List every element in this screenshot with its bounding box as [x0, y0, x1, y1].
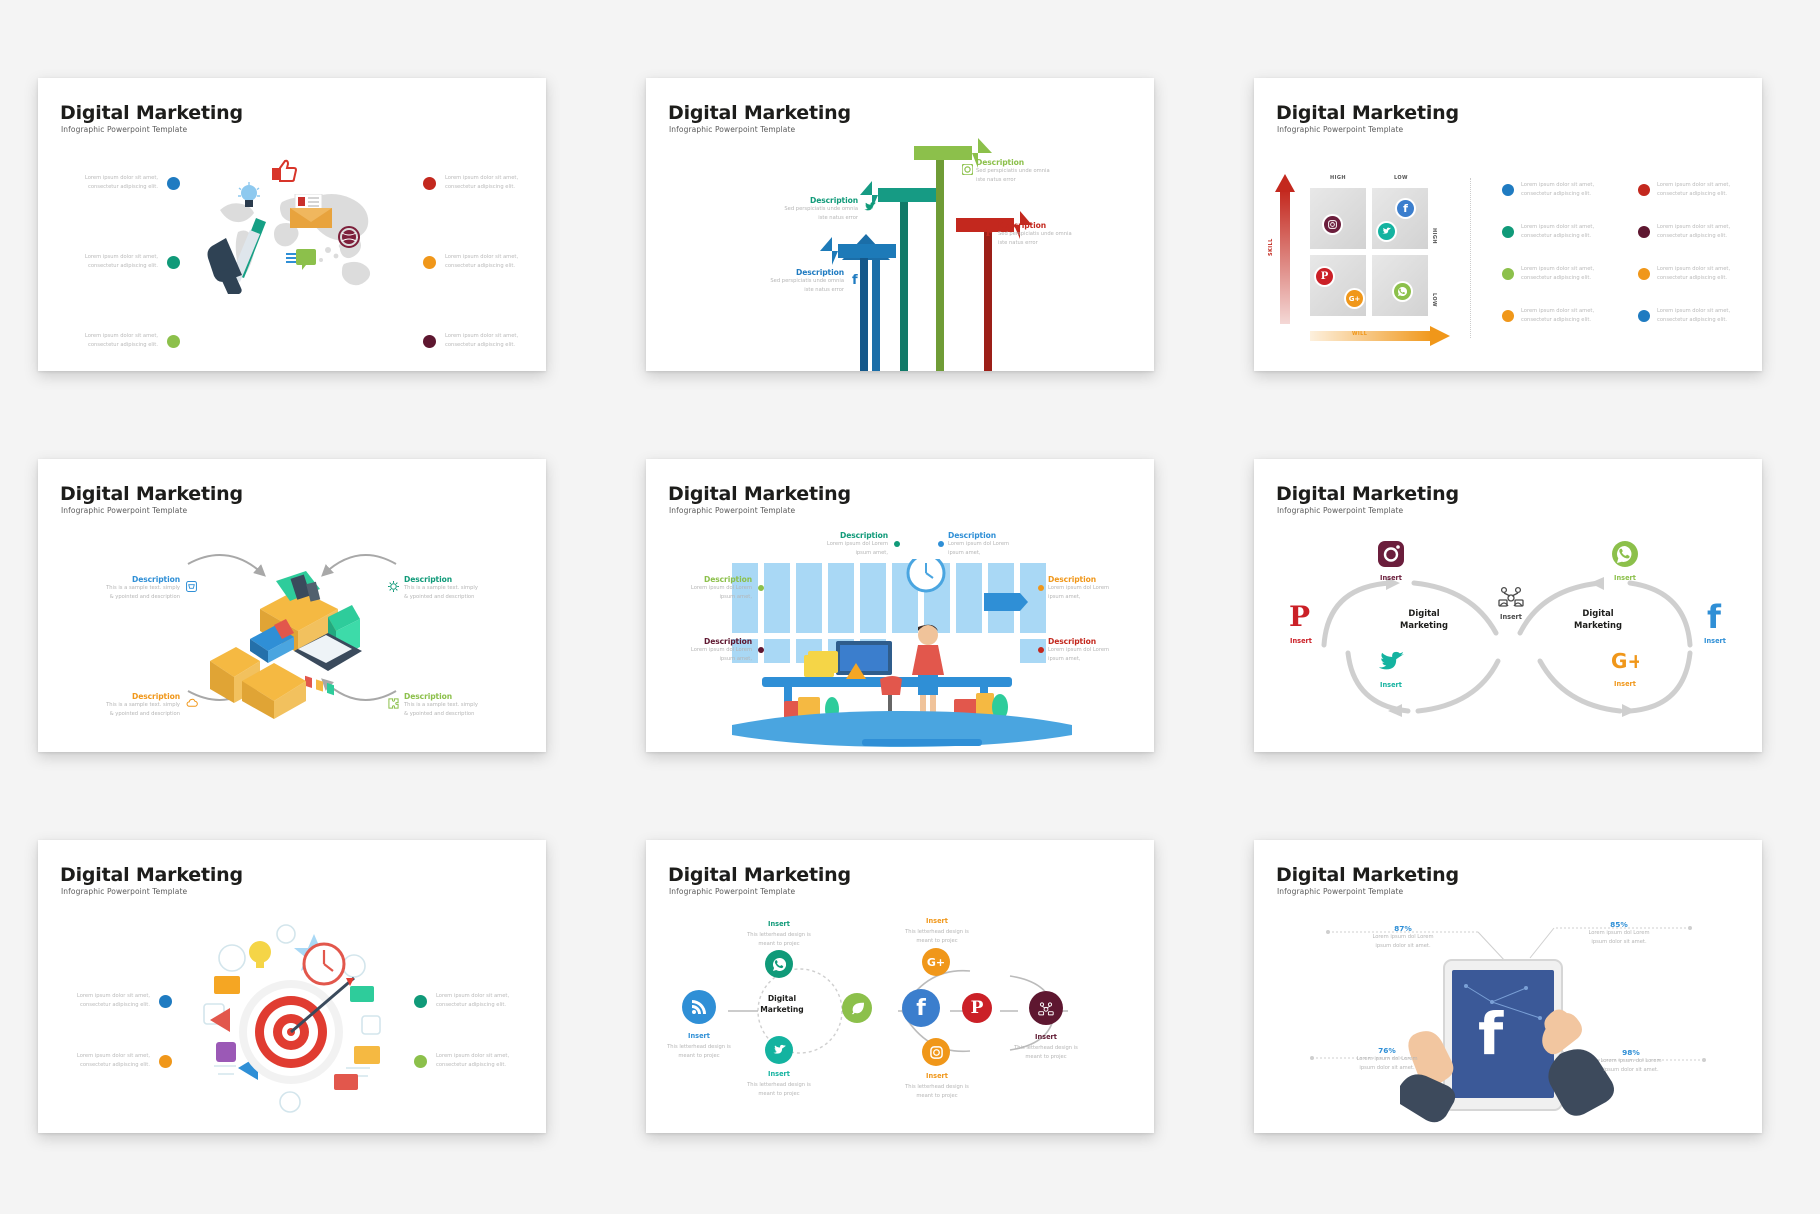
- instagram-icon: [962, 164, 973, 175]
- bullet-text: Lorem ipsum dolor sit amet,consectetur a…: [445, 253, 531, 271]
- bullet-dot: [167, 177, 180, 190]
- legend-item[interactable]: Lorem ipsum dolor sit amet,consectetur a…: [1502, 265, 1601, 283]
- slide-thumbnail-1[interactable]: Digital Marketing Infographic Powerpoint…: [38, 78, 546, 371]
- description-heading: Description: [404, 575, 520, 584]
- page-subtitle: Infographic Powerpoint Template: [61, 125, 187, 134]
- node-body: This letterhead design ismeant to projec: [654, 1043, 744, 1061]
- legend-item[interactable]: Lorem ipsum dolor sit amet,consectetur a…: [1502, 223, 1601, 241]
- bullet-text: Lorem ipsum dolor sit amet,consectetur a…: [72, 253, 158, 271]
- node-label: Insert: [742, 1070, 816, 1078]
- legend-dot: [1638, 184, 1650, 196]
- description-heading: Description: [1048, 575, 1140, 584]
- description-body: Lorem ipsum dol Loremipsum amet,: [660, 646, 752, 664]
- stat-value: 76%: [1330, 1046, 1444, 1055]
- arrow-label-group[interactable]: Description Sed perspiciatis unde omniai…: [998, 221, 1108, 248]
- stat-body: Lorem ipsum dol Loremipsum dolor sit ame…: [1330, 1055, 1444, 1073]
- skill-axis-arrow: [1274, 174, 1296, 324]
- svg-text:f: f: [1478, 1000, 1504, 1068]
- bullet-text: Lorem ipsum dolor sit amet,consectetur a…: [436, 1052, 524, 1070]
- page-title: Digital Marketing: [1276, 483, 1459, 505]
- node-body: This letterhead design ismeant to projec: [734, 931, 824, 949]
- presenter-illustration: [732, 559, 1072, 749]
- node-label: Insert: [1278, 637, 1324, 645]
- legend-dot: [1502, 226, 1514, 238]
- legend-text: Lorem ipsum dolor sit amet,consectetur a…: [1657, 265, 1737, 283]
- bullet-row[interactable]: Lorem ipsum dolor sit amet,consectetur a…: [62, 1052, 172, 1070]
- description-body: This is a sample text. simply& ypointed …: [64, 701, 180, 719]
- infinity-loop-arrows: [1274, 537, 1744, 727]
- svg-text:G+: G+: [1611, 649, 1639, 673]
- slide-thumbnail-4[interactable]: Digital Marketing Infographic Powerpoint…: [38, 459, 546, 752]
- matrix-cell-low-high[interactable]: [1372, 188, 1428, 249]
- arrow-label-group[interactable]: Description Sed perspiciatis unde omniai…: [738, 196, 858, 223]
- skill-axis-label: SKILL: [1268, 238, 1274, 256]
- twitter-icon[interactable]: [1378, 223, 1395, 240]
- node-twitter[interactable]: Insert: [1368, 651, 1414, 689]
- rss-icon[interactable]: [682, 990, 716, 1024]
- stat-group[interactable]: 87% Lorem ipsum dol Loremipsum dolor sit…: [1346, 924, 1460, 951]
- whatsapp-icon[interactable]: [1394, 283, 1411, 300]
- arrow-label-group[interactable]: Description Sed perspiciatis unde omniai…: [976, 158, 1086, 185]
- center-label-right: DigitalMarketing: [1560, 607, 1636, 631]
- node-label: Insert: [900, 1072, 974, 1080]
- bullet-text: Lorem ipsum dolor sit amet,consectetur a…: [445, 174, 531, 192]
- matrix-row-header-low: LOW: [1431, 293, 1437, 307]
- bullet-dot: [758, 647, 764, 653]
- bullet-row[interactable]: Lorem ipsum dolor sit amet,consectetur a…: [72, 174, 180, 192]
- page-subtitle: Infographic Powerpoint Template: [1277, 887, 1403, 896]
- node-label: Insert: [1368, 574, 1414, 582]
- bullet-dot: [167, 256, 180, 269]
- description-heading: Description: [1048, 637, 1140, 646]
- node-label: Insert: [1009, 1033, 1083, 1041]
- pinterest-icon[interactable]: P: [1316, 268, 1333, 285]
- description-group[interactable]: Description Lorem ipsum dol Loremipsum a…: [660, 575, 752, 602]
- stat-group[interactable]: 98% Lorem ipsum dol Loremipsum dolor sit…: [1574, 1048, 1688, 1075]
- target-bullseye-illustration: [186, 916, 396, 1116]
- description-group[interactable]: Description This is a sample text. simpl…: [64, 692, 180, 719]
- envelope-icon: [290, 194, 332, 228]
- description-body: Sed perspiciatis unde omniaiste natus er…: [976, 167, 1086, 185]
- page-subtitle: Infographic Powerpoint Template: [61, 887, 187, 896]
- page-subtitle: Infographic Powerpoint Template: [1277, 125, 1403, 134]
- description-heading: Description: [738, 196, 858, 205]
- network-icon[interactable]: [1029, 991, 1063, 1025]
- matrix-col-header-high: HIGH: [1330, 175, 1346, 181]
- page-title: Digital Marketing: [668, 864, 851, 886]
- legend-dot: [1638, 310, 1650, 322]
- page-title: Digital Marketing: [60, 864, 243, 886]
- arrow-label-group[interactable]: Description Sed perspiciatis unde omniai…: [724, 268, 844, 295]
- description-body: Sed perspiciatis unde omniaiste natus er…: [738, 205, 858, 223]
- thumbs-up-icon: [271, 158, 297, 182]
- legend-item[interactable]: Lorem ipsum dolor sit amet,consectetur a…: [1502, 181, 1601, 199]
- globe-icon: [338, 226, 360, 248]
- facebook-icon: f: [1701, 601, 1729, 631]
- node-label: Insert: [1602, 574, 1648, 582]
- description-heading: Description: [660, 637, 752, 646]
- page-subtitle: Infographic Powerpoint Template: [669, 887, 795, 896]
- description-heading: Description: [660, 575, 752, 584]
- svg-text:P: P: [986, 228, 994, 238]
- network-icon: [1498, 585, 1524, 607]
- stat-value: 98%: [1574, 1048, 1688, 1057]
- legend-item[interactable]: Lorem ipsum dolor sit amet,consectetur a…: [1502, 307, 1601, 325]
- instagram-icon[interactable]: [922, 1038, 950, 1066]
- bullet-text: Lorem ipsum dolor sit amet,consectetur a…: [445, 332, 531, 350]
- description-heading: Description: [976, 158, 1086, 167]
- description-body: Sed perspiciatis unde omniaiste natus er…: [724, 277, 844, 295]
- description-body: Lorem ipsum dol Loremipsum amet,: [796, 540, 888, 558]
- slide-thumbnail-8[interactable]: Digital Marketing Infographic Powerpoint…: [646, 840, 1154, 1133]
- legend-dot: [1502, 184, 1514, 196]
- matrix-cell-high-low[interactable]: [1310, 255, 1366, 316]
- description-heading: Description: [64, 575, 180, 584]
- bullet-text: Lorem ipsum dolor sit amet,consectetur a…: [436, 992, 524, 1010]
- stat-group[interactable]: 85% Lorem ipsum dol Loremipsum dolor sit…: [1562, 920, 1676, 947]
- matrix-row-header-high: HIGH: [1431, 228, 1437, 244]
- node-label: Insert: [1368, 681, 1414, 689]
- page-title: Digital Marketing: [668, 102, 851, 124]
- description-heading: Description: [948, 531, 1040, 540]
- stat-body: Lorem ipsum dol Loremipsum dolor sit ame…: [1562, 929, 1676, 947]
- bullet-dot: [414, 1055, 427, 1068]
- node-googleplus[interactable]: G+ Insert: [1602, 649, 1648, 688]
- description-group[interactable]: Description This is a sample text. simpl…: [404, 575, 520, 602]
- description-body: Lorem ipsum dol Loremipsum amet,: [1048, 646, 1140, 664]
- description-body: This is a sample text. simply& ypointed …: [404, 701, 520, 719]
- node-label: Insert: [742, 920, 816, 928]
- description-body: Lorem ipsum dol Loremipsum amet,: [660, 584, 752, 602]
- description-heading: Description: [64, 692, 180, 701]
- stat-body: Lorem ipsum dol Loremipsum dolor sit ame…: [1346, 933, 1460, 951]
- page-subtitle: Infographic Powerpoint Template: [1277, 506, 1403, 515]
- puzzle-icon: [388, 698, 399, 709]
- gear-icon: [388, 581, 399, 592]
- vertical-divider: [1470, 178, 1471, 338]
- googleplus-icon: G+: [1611, 649, 1639, 673]
- legend-text: Lorem ipsum dolor sit amet,consectetur a…: [1657, 307, 1737, 325]
- bullet-dot: [423, 256, 436, 269]
- pinterest-icon: P: [1286, 601, 1316, 631]
- bullet-dot: [1038, 585, 1044, 591]
- bullet-text: Lorem ipsum dolor sit amet,consectetur a…: [72, 332, 158, 350]
- bullet-row[interactable]: Lorem ipsum dolor sit amet,consectetur a…: [72, 253, 180, 271]
- node-label: Insert: [1602, 680, 1648, 688]
- bullet-dot: [758, 585, 764, 591]
- description-group[interactable]: Description Lorem ipsum dol Loremipsum a…: [796, 531, 888, 558]
- bullet-dot: [938, 541, 944, 547]
- description-group[interactable]: Description This is a sample text. simpl…: [404, 692, 520, 719]
- legend-text: Lorem ipsum dolor sit amet,consectetur a…: [1657, 223, 1737, 241]
- megaphone-icon: [204, 216, 288, 294]
- slide-thumbnail-7[interactable]: Digital Marketing Infographic Powerpoint…: [38, 840, 546, 1133]
- legend-item[interactable]: Lorem ipsum dolor sit amet,consectetur a…: [1638, 223, 1737, 241]
- whatsapp-icon[interactable]: [765, 950, 793, 978]
- slide-thumbnail-3[interactable]: Digital Marketing Infographic Powerpoint…: [1254, 78, 1762, 371]
- twitter-icon: [1378, 651, 1404, 673]
- node-label: Insert: [1692, 637, 1738, 645]
- bullet-row[interactable]: Lorem ipsum dolor sit amet,consectetur a…: [423, 174, 531, 192]
- description-body: Lorem ipsum dol Loremipsum amet,: [948, 540, 1040, 558]
- bullet-dot: [423, 177, 436, 190]
- stat-value: 87%: [1346, 924, 1460, 933]
- legend-dot: [1638, 226, 1650, 238]
- bullet-row[interactable]: Lorem ipsum dolor sit amet,consectetur a…: [72, 332, 180, 350]
- page-title: Digital Marketing: [1276, 102, 1459, 124]
- ecommerce-isometric-illustration: [198, 569, 388, 719]
- bullet-row[interactable]: Lorem ipsum dolor sit amet,consectetur a…: [414, 1052, 524, 1070]
- description-heading: Description: [724, 268, 844, 277]
- page-title: Digital Marketing: [668, 483, 851, 505]
- description-heading: Description: [404, 692, 520, 701]
- slide-thumbnail-6[interactable]: Digital Marketing Infographic Powerpoint…: [1254, 459, 1762, 752]
- node-whatsapp[interactable]: Insert: [1602, 541, 1648, 582]
- instagram-icon[interactable]: [1324, 216, 1341, 233]
- center-label-left: DigitalMarketing: [1386, 607, 1462, 631]
- page-title: Digital Marketing: [60, 483, 243, 505]
- facebook-icon[interactable]: f: [1397, 200, 1414, 217]
- matrix-col-header-low: LOW: [1394, 175, 1408, 181]
- googleplus-icon[interactable]: G+: [922, 948, 950, 976]
- svg-text:f: f: [1707, 601, 1722, 631]
- legend-item[interactable]: Lorem ipsum dolor sit amet,consectetur a…: [1638, 307, 1737, 325]
- page-subtitle: Infographic Powerpoint Template: [61, 506, 187, 515]
- svg-text:P: P: [1289, 601, 1310, 631]
- node-instagram[interactable]: Insert: [1368, 541, 1414, 582]
- facebook-icon[interactable]: f: [902, 989, 940, 1027]
- bullet-dot: [159, 995, 172, 1008]
- stat-group[interactable]: 76% Lorem ipsum dol Loremipsum dolor sit…: [1330, 1046, 1444, 1073]
- cart-icon: [186, 581, 197, 592]
- bullet-dot: [894, 541, 900, 547]
- stat-body: Lorem ipsum dol Loremipsum dolor sit ame…: [1574, 1057, 1688, 1075]
- googleplus-icon[interactable]: G+: [1346, 290, 1363, 307]
- will-axis-label: WILL: [1352, 331, 1367, 337]
- node-label: Insert: [900, 917, 974, 925]
- description-group[interactable]: Description Lorem ipsum dol Loremipsum a…: [1048, 575, 1140, 602]
- pinterest-icon[interactable]: P: [962, 993, 992, 1023]
- pinterest-icon: P: [984, 227, 995, 238]
- description-body: This is a sample text. simply& ypointed …: [404, 584, 520, 602]
- description-heading: Description: [796, 531, 888, 540]
- bullet-dot: [423, 335, 436, 348]
- legend-item[interactable]: Lorem ipsum dolor sit amet,consectetur a…: [1638, 265, 1737, 283]
- slide-thumbnail-9[interactable]: Digital Marketing Infographic Powerpoint…: [1254, 840, 1762, 1133]
- lightbulb-icon: [238, 182, 260, 212]
- legend-dot: [1502, 268, 1514, 280]
- description-group[interactable]: Description This is a sample text. simpl…: [64, 575, 180, 602]
- chat-icon: [286, 248, 316, 270]
- description-body: This is a sample text. simply& ypointed …: [64, 584, 180, 602]
- bullet-row[interactable]: Lorem ipsum dolor sit amet,consectetur a…: [423, 332, 531, 350]
- page-title: Digital Marketing: [1276, 864, 1459, 886]
- twitter-icon[interactable]: [765, 1036, 793, 1064]
- bullet-dot: [167, 335, 180, 348]
- description-heading: Description: [998, 221, 1108, 230]
- bullet-dot: [414, 995, 427, 1008]
- bullet-dot: [159, 1055, 172, 1068]
- node-body: This letterhead design ismeant to projec: [734, 1081, 824, 1099]
- bullet-dot: [1038, 647, 1044, 653]
- bullet-row[interactable]: Lorem ipsum dolor sit amet,consectetur a…: [62, 992, 172, 1010]
- twitter-icon: [864, 202, 876, 213]
- legend-text: Lorem ipsum dolor sit amet,consectetur a…: [1521, 223, 1601, 241]
- stat-value: 85%: [1562, 920, 1676, 929]
- legend-dot: [1638, 268, 1650, 280]
- node-label: Insert: [662, 1032, 736, 1040]
- legend-text: Lorem ipsum dolor sit amet,consectetur a…: [1521, 307, 1601, 325]
- node-body: This letterhead design ismeant to projec: [892, 928, 982, 946]
- description-group[interactable]: Description Lorem ipsum dol Loremipsum a…: [1048, 637, 1140, 664]
- node-pinterest[interactable]: P Insert: [1278, 601, 1324, 645]
- instagram-icon: [1378, 541, 1404, 567]
- cloud-icon: [186, 698, 198, 709]
- node-network-center[interactable]: Insert: [1487, 585, 1535, 621]
- page-title: Digital Marketing: [60, 102, 243, 124]
- node-facebook[interactable]: f Insert: [1692, 601, 1738, 645]
- legend-dot: [1502, 310, 1514, 322]
- svg-text:f: f: [852, 273, 858, 285]
- bullet-text: Lorem ipsum dolor sit amet,consectetur a…: [72, 174, 158, 192]
- will-axis-arrow: [1310, 326, 1450, 346]
- whatsapp-icon: [1612, 541, 1638, 567]
- description-body: Sed perspiciatis unde omniaiste natus er…: [998, 230, 1108, 248]
- node-body: This letterhead design ismeant to projec: [1001, 1044, 1091, 1062]
- page-subtitle: Infographic Powerpoint Template: [669, 125, 795, 134]
- description-body: Lorem ipsum dol Loremipsum amet,: [1048, 584, 1140, 602]
- bullet-text: Lorem ipsum dolor sit amet,consectetur a…: [62, 1052, 150, 1070]
- legend-item[interactable]: Lorem ipsum dolor sit amet,consectetur a…: [1638, 181, 1737, 199]
- bullet-row[interactable]: Lorem ipsum dolor sit amet,consectetur a…: [423, 253, 531, 271]
- node-label: Insert: [1487, 613, 1535, 621]
- bullet-row[interactable]: Lorem ipsum dolor sit amet,consectetur a…: [414, 992, 524, 1010]
- legend-text: Lorem ipsum dolor sit amet,consectetur a…: [1657, 181, 1737, 199]
- center-label: DigitalMarketing: [744, 993, 820, 1015]
- bullet-text: Lorem ipsum dolor sit amet,consectetur a…: [62, 992, 150, 1010]
- legend-text: Lorem ipsum dolor sit amet,consectetur a…: [1521, 265, 1601, 283]
- page-subtitle: Infographic Powerpoint Template: [669, 506, 795, 515]
- slide-thumbnail-5[interactable]: Digital Marketing Infographic Powerpoint…: [646, 459, 1154, 752]
- leaf-icon[interactable]: [842, 993, 872, 1023]
- legend-text: Lorem ipsum dolor sit amet,consectetur a…: [1521, 181, 1601, 199]
- description-group[interactable]: Description Lorem ipsum dol Loremipsum a…: [948, 531, 1040, 558]
- node-body: This letterhead design ismeant to projec: [892, 1083, 982, 1101]
- facebook-icon: f: [851, 273, 860, 285]
- slide-thumbnail-2[interactable]: Digital Marketing Infographic Powerpoint…: [646, 78, 1154, 371]
- slides-grid: Digital Marketing Infographic Powerpoint…: [38, 78, 1782, 1136]
- description-group[interactable]: Description Lorem ipsum dol Loremipsum a…: [660, 637, 752, 664]
